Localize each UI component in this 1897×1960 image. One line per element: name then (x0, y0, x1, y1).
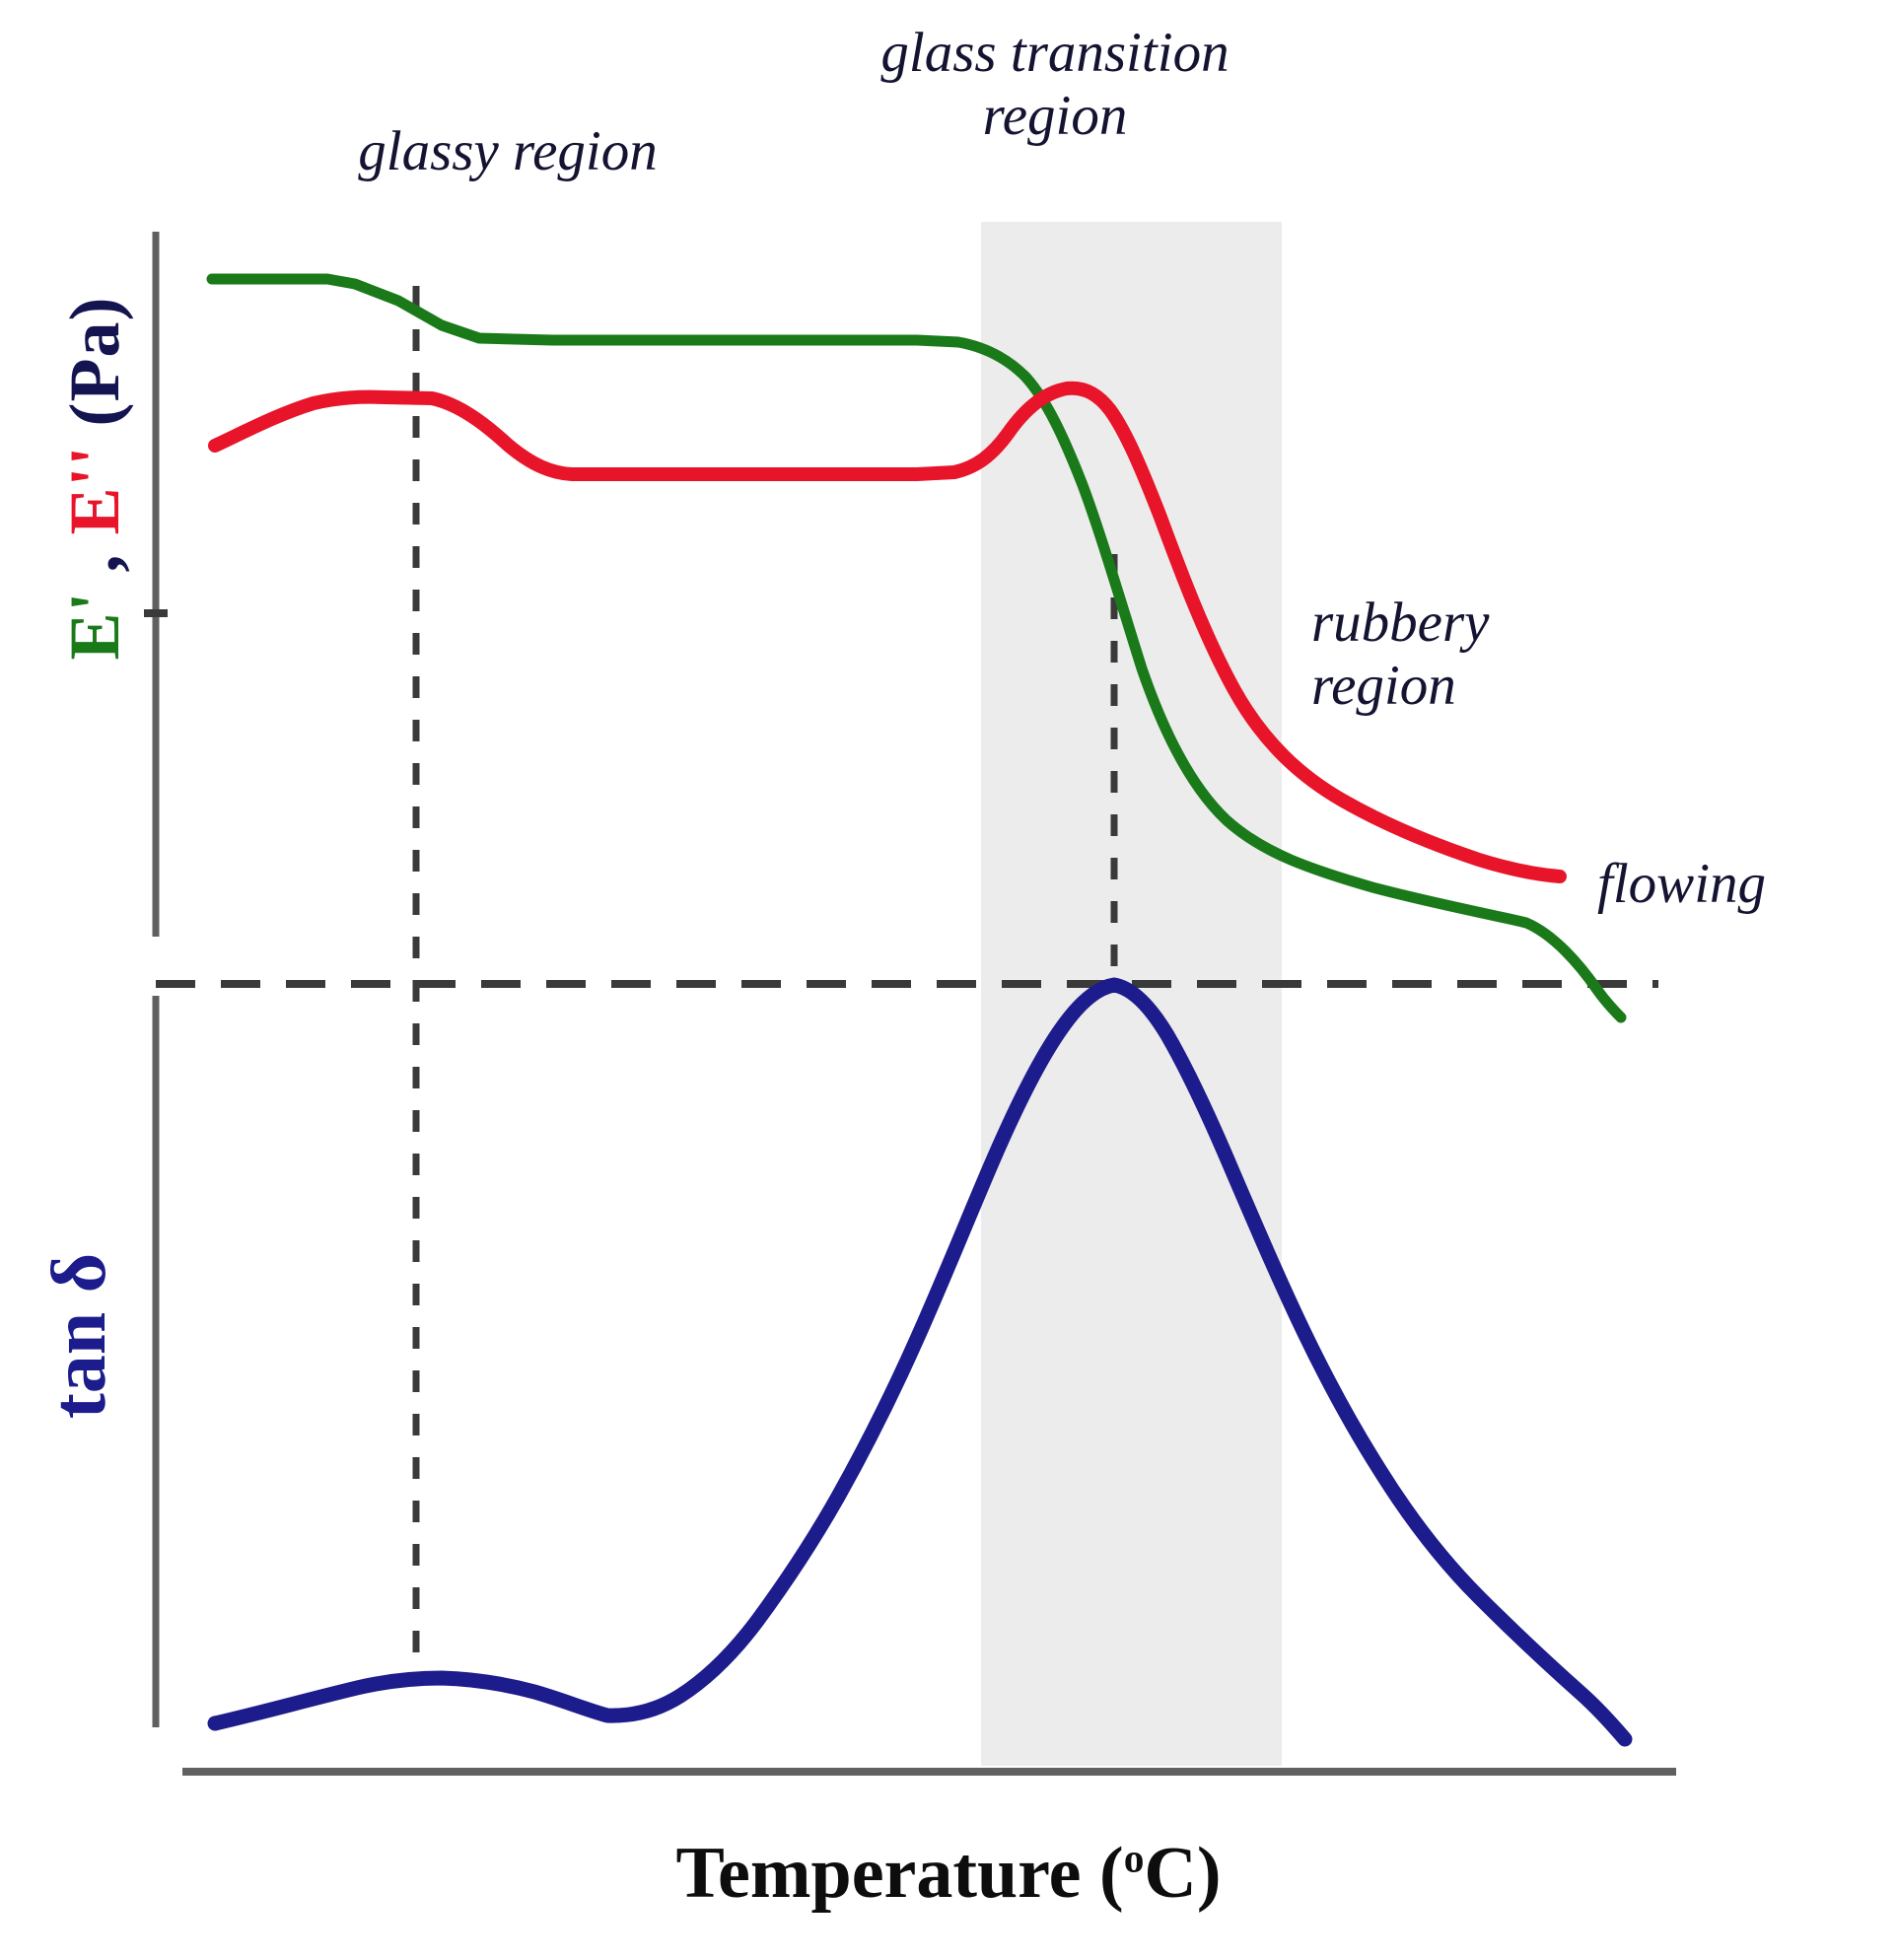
y-axis-label-unit: (Pa) (55, 297, 134, 446)
x-axis-label-tail: C) (1144, 1833, 1221, 1914)
y-axis-label-e-double-prime: E'' (55, 445, 134, 534)
annotation-glass-transition-region: glass transition region (799, 22, 1311, 148)
annotation-flowing-region: flowing (1597, 853, 1897, 916)
annotation-glassy-region: glassy region (296, 120, 720, 183)
x-axis-label-degree: o (1124, 1835, 1145, 1880)
y-axis-label-modulus: E' , E'' (Pa) (54, 163, 163, 794)
dma-plot-svg (0, 0, 1897, 1960)
annotation-rubbery-region: rubbery region (1311, 592, 1607, 718)
y-axis-label-comma: , (55, 534, 134, 591)
figure-canvas: E' , E'' (Pa) tan δ glassy region glass … (0, 0, 1897, 1960)
x-axis-label: Temperature (oC) (0, 1832, 1897, 1916)
y-axis-label-e-prime: E' (55, 591, 134, 660)
x-axis-label-main: Temperature ( (675, 1833, 1123, 1914)
y-axis-label-tan-delta: tan δ (35, 1129, 143, 1543)
tan-delta-curve (215, 985, 1625, 1739)
